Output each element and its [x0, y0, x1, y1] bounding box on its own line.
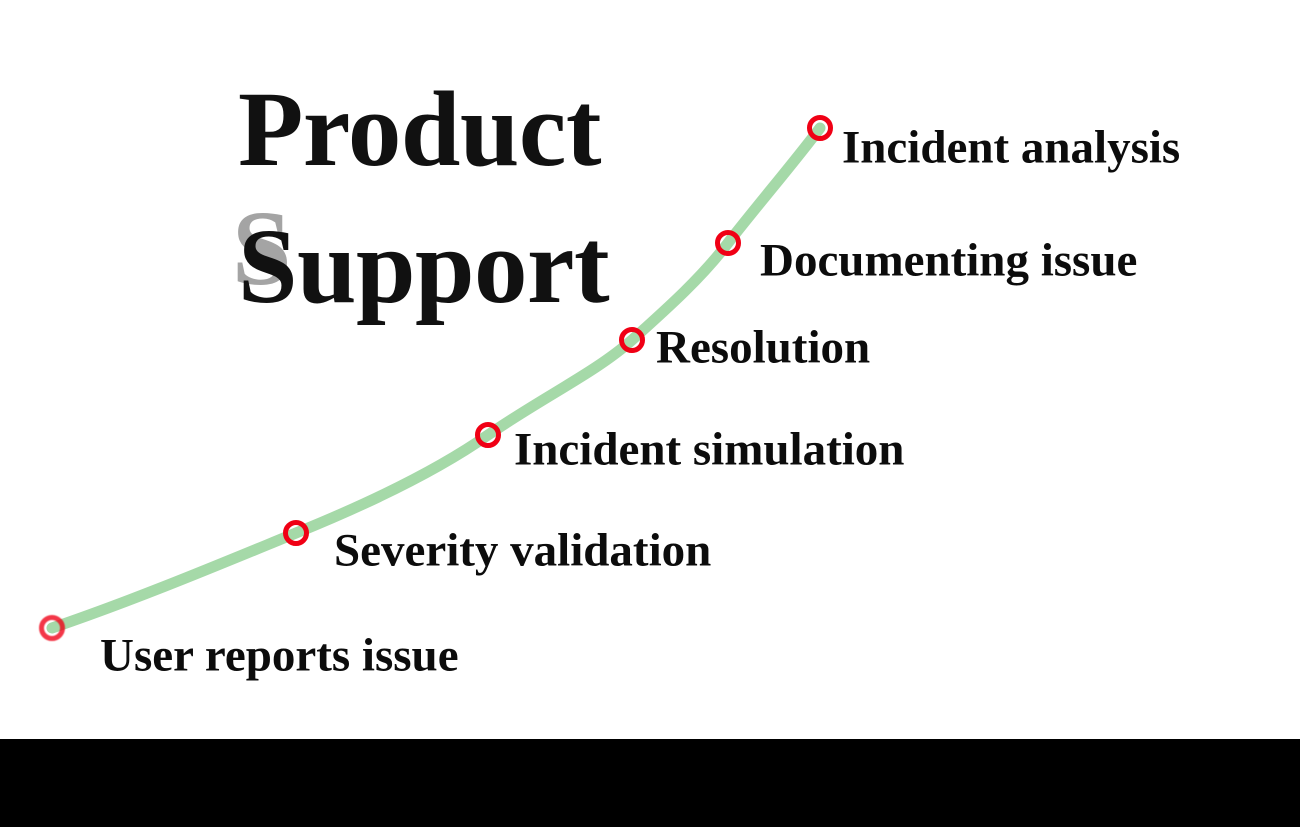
plot-area: S Product Support User reports issue Sev… [0, 0, 1300, 739]
data-point-label-3: Incident simulation [514, 427, 904, 474]
data-point-marker-3[interactable] [475, 422, 501, 448]
watermark-bar: alamy Image ID: 2K111KF www.alamy.com [0, 739, 1300, 827]
data-point-label-2: Severity validation [334, 528, 711, 575]
data-point-label-5: Documenting issue [760, 238, 1137, 285]
data-point-marker-6[interactable] [807, 115, 833, 141]
page-title: Product Support [238, 62, 678, 336]
data-point-label-1: User reports issue [100, 633, 459, 680]
data-point-marker-2[interactable] [283, 520, 309, 546]
chart-canvas: S Product Support User reports issue Sev… [0, 0, 1300, 827]
data-point-label-6: Incident analysis [842, 125, 1180, 172]
data-point-marker-1[interactable] [39, 615, 65, 641]
data-point-marker-4[interactable] [619, 327, 645, 353]
data-point-label-4: Resolution [656, 325, 870, 372]
data-point-marker-5[interactable] [715, 230, 741, 256]
